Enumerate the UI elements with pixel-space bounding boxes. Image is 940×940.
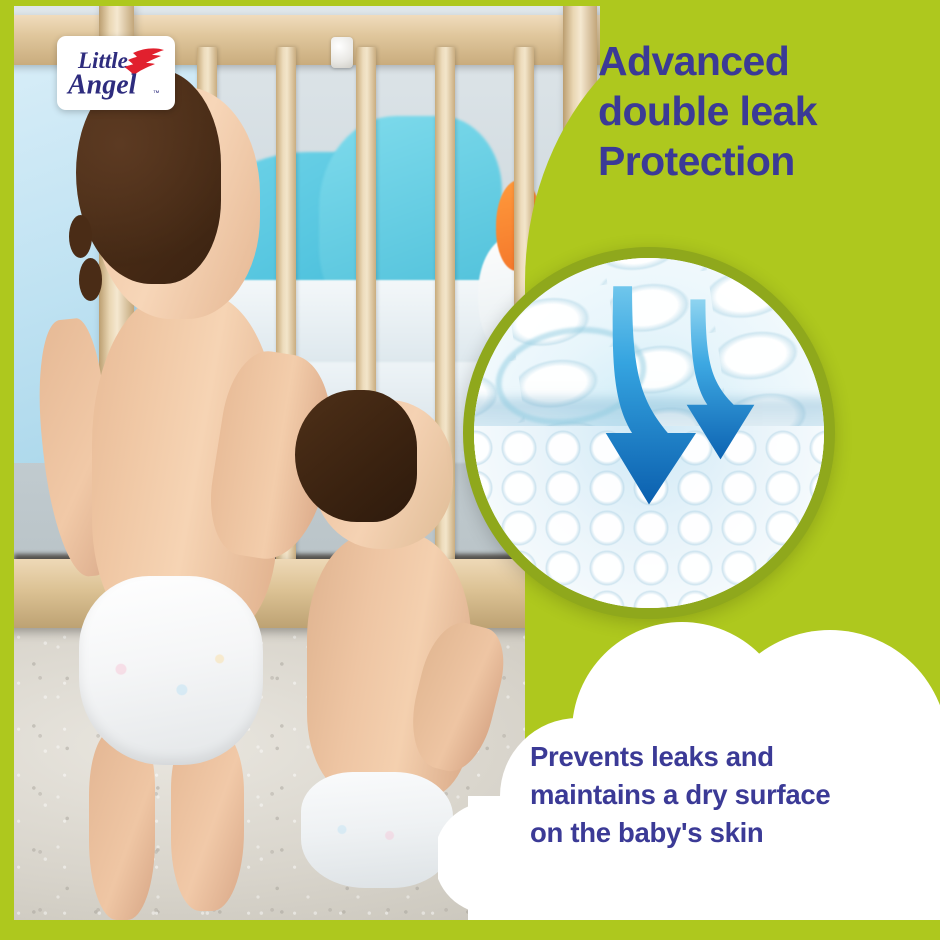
toddler-diaper-print [92, 628, 237, 731]
absorption-arrows [474, 258, 824, 608]
absorption-arrow-secondary [687, 299, 755, 459]
baby-diaper-print [313, 803, 429, 861]
little-angel-logo-mark: Little Angel ™ [64, 42, 168, 104]
absorption-detail-inset [463, 247, 835, 619]
logo-trademark: ™ [153, 90, 160, 97]
callout-line-3: on the baby's skin [530, 814, 930, 852]
frame-left-border [0, 0, 14, 940]
toddler-hair-curl [69, 215, 92, 258]
frame-top-border [0, 0, 940, 6]
headline-line-3: Protection [598, 136, 918, 186]
callout-text: Prevents leaks and maintains a dry surfa… [530, 738, 930, 852]
baby-hair [295, 390, 417, 523]
advertisement-canvas: Advanced double leak Protection [0, 0, 940, 940]
absorption-arrow-primary [606, 286, 696, 504]
callout-line-1: Prevents leaks and [530, 738, 930, 776]
prevents-leaks-callout: Prevents leaks and maintains a dry surfa… [438, 600, 940, 940]
callout-line-2: maintains a dry surface [530, 776, 930, 814]
frame-bottom-border [0, 920, 940, 940]
toddler-hair-curl [79, 258, 102, 301]
headline-line-2: double leak [598, 86, 918, 136]
page-title: Advanced double leak Protection [598, 36, 918, 186]
headline-line-1: Advanced [598, 36, 918, 86]
little-angel-logo[interactable]: Little Angel ™ [57, 36, 175, 110]
logo-word-angel: Angel [66, 70, 137, 101]
